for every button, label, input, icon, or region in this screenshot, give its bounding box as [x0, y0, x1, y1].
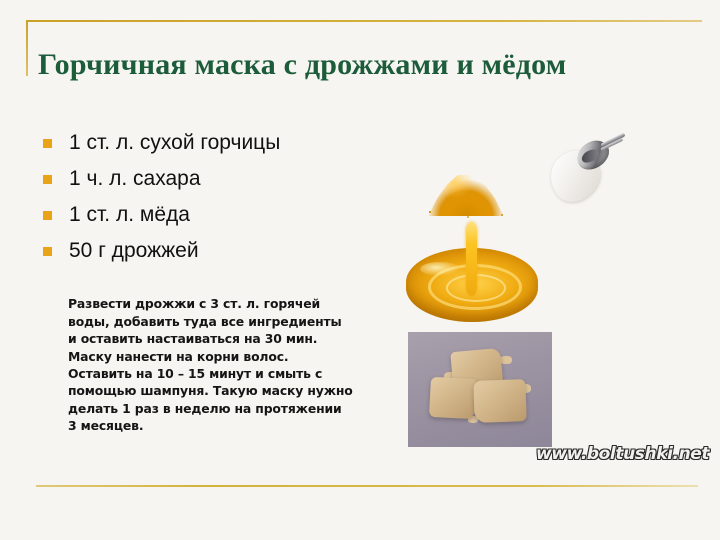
- page-title: Горчичная маска с дрожжами и мёдом: [38, 46, 698, 84]
- mustard-powder-photo: [420, 150, 512, 222]
- title-left-rule: [26, 20, 28, 76]
- yeast-photo: [408, 332, 552, 447]
- ingredient-label: 50 г дрожжей: [69, 239, 199, 262]
- site-watermark: www.boltushki.net: [536, 444, 709, 464]
- procedure-paragraph: Развести дрожжи с 3 ст. л. горячей воды,…: [68, 295, 354, 434]
- yeast-crumb: [500, 356, 512, 364]
- yeast-block: [473, 379, 526, 423]
- ingredient-list: 1 ст. л. сухой горчицы 1 ч. л. сахара 1 …: [40, 128, 400, 272]
- ingredient-label: 1 ст. л. мёда: [69, 203, 190, 226]
- yeast-block: [429, 377, 477, 419]
- title-top-rule: [26, 20, 702, 22]
- mustard-pile: [426, 166, 506, 216]
- bullet-square-icon: [43, 211, 52, 220]
- scoop-handle: [600, 133, 625, 148]
- slide-canvas: Горчичная маска с дрожжами и мёдом 1 ст.…: [0, 0, 720, 540]
- list-item: 1 ч. л. сахара: [40, 164, 400, 193]
- honey-stream: [466, 222, 477, 296]
- bullet-square-icon: [43, 175, 52, 184]
- bullet-square-icon: [43, 247, 52, 256]
- list-item: 1 ст. л. сухой горчицы: [40, 128, 400, 157]
- sugar-scoop-photo: [546, 132, 632, 206]
- footer-rule: [36, 485, 698, 487]
- ingredient-label: 1 ст. л. сухой горчицы: [69, 131, 280, 154]
- list-item: 50 г дрожжей: [40, 236, 400, 265]
- ingredient-label: 1 ч. л. сахара: [69, 167, 201, 190]
- honey-photo: [406, 222, 538, 326]
- list-item: 1 ст. л. мёда: [40, 200, 400, 229]
- honey-highlight: [420, 262, 460, 276]
- bullet-square-icon: [43, 139, 52, 148]
